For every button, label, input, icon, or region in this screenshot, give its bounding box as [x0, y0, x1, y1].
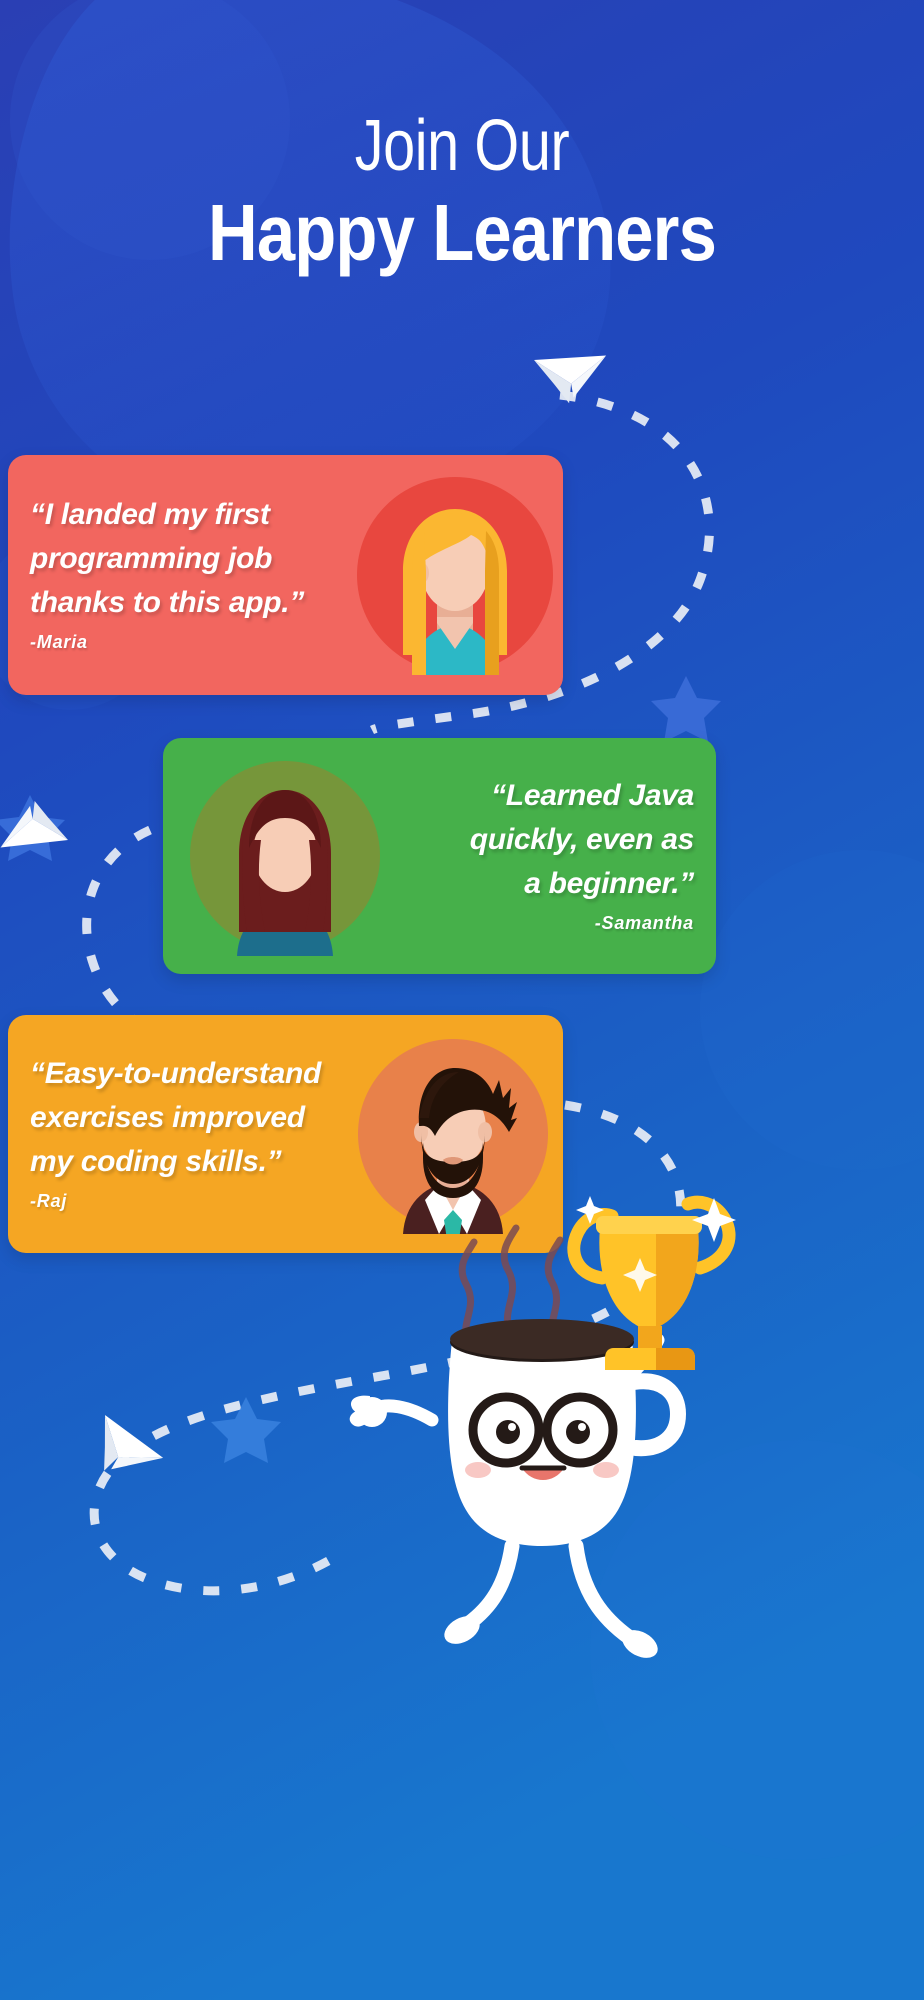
testimonial-card-maria[interactable]: “I landed my first programming job thank… [8, 455, 563, 695]
testimonial-author-maria: -Maria [30, 627, 333, 657]
decorations-layer [0, 0, 924, 2000]
testimonial-author-raj: -Raj [30, 1186, 331, 1216]
testimonial-card-raj[interactable]: “Easy-to-understand exercises improved m… [8, 1015, 563, 1253]
avatar-maria [355, 475, 555, 675]
quote-line: “I landed my first [30, 498, 270, 531]
star-icon [651, 676, 721, 742]
quote-line: “Learned Java [491, 779, 694, 812]
quote-line: exercises improved [30, 1101, 305, 1134]
testimonial-card-samantha[interactable]: “Learned Java quickly, even as a beginne… [163, 738, 716, 974]
quote-line: a beginner.” [524, 867, 694, 900]
quote-line: “Easy-to-understand [30, 1057, 321, 1090]
quote-line: thanks to this app.” [30, 586, 304, 619]
testimonial-text-samantha: “Learned Java quickly, even as a beginne… [385, 774, 716, 938]
quote-line: programming job [30, 542, 272, 575]
avatar-raj [353, 1034, 553, 1234]
star-icon [0, 795, 65, 861]
testimonial-text-maria: “I landed my first programming job thank… [8, 493, 355, 657]
quote-line: my coding skills.” [30, 1145, 281, 1178]
avatar-samantha [185, 756, 385, 956]
quote-line: quickly, even as [470, 823, 694, 856]
testimonial-text-raj: “Easy-to-understand exercises improved m… [8, 1052, 353, 1216]
star-icon [211, 1397, 281, 1463]
testimonial-author-samantha: -Samantha [407, 908, 694, 938]
